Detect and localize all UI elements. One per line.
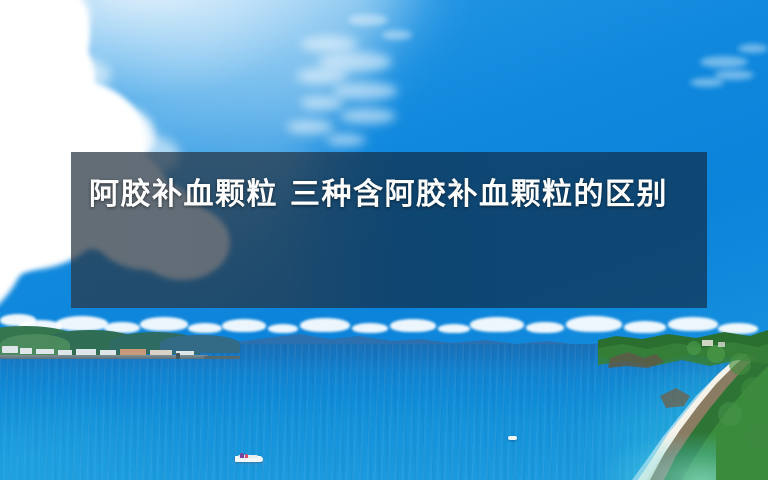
boat-passenger-secondary xyxy=(245,454,248,458)
article-banner-image: 阿胶补血颗粒 三种含阿胶补血颗粒的区别 xyxy=(0,0,768,480)
title-overlay-band: 阿胶补血颗粒 三种含阿胶补血颗粒的区别 xyxy=(71,152,707,308)
motorboat xyxy=(235,453,263,462)
coastal-town-left xyxy=(0,326,240,374)
nearshore-water-glow-left xyxy=(0,374,260,480)
floating-buoy xyxy=(508,436,517,440)
boat-passenger xyxy=(240,453,244,458)
green-cliff-headland-right xyxy=(598,330,768,480)
banner-title: 阿胶补血颗粒 三种含阿胶补血颗粒的区别 xyxy=(89,168,689,222)
